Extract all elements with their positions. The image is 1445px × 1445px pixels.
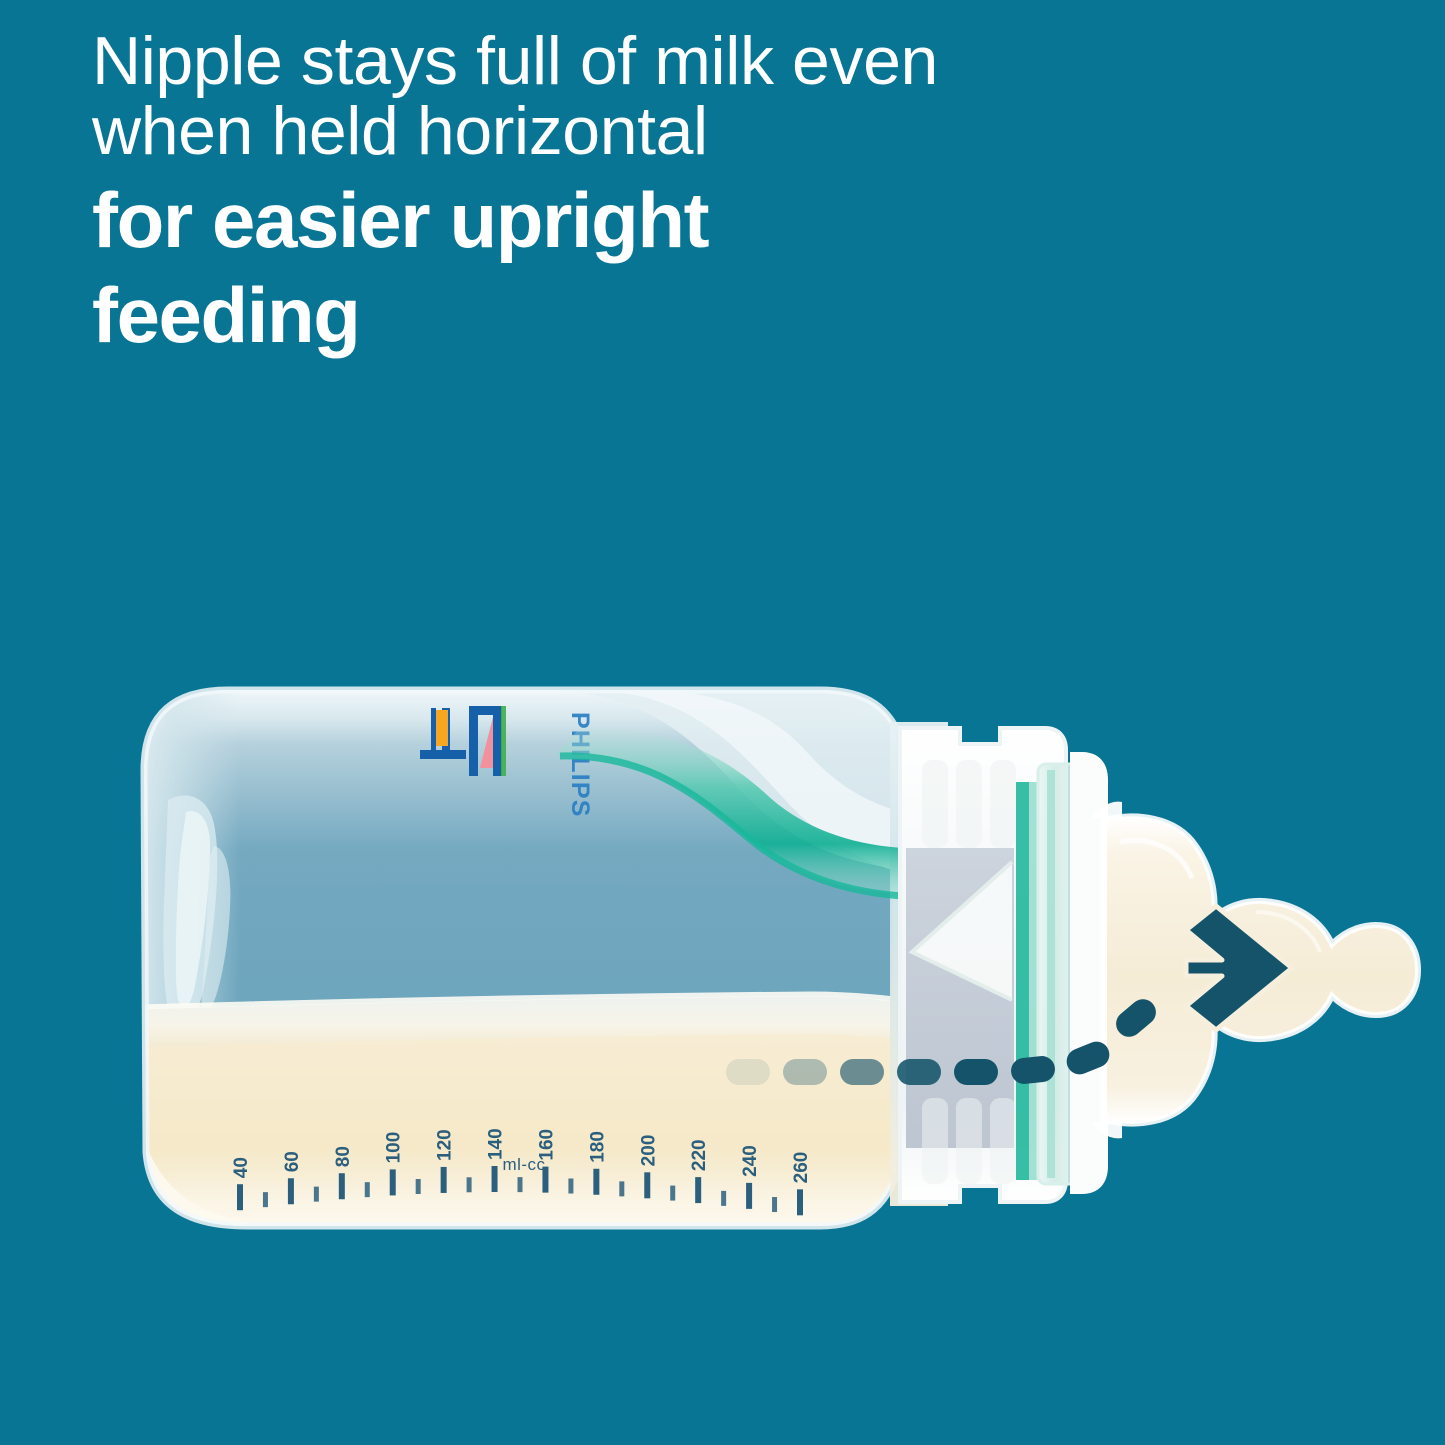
scale-major-tick bbox=[288, 1178, 294, 1204]
scale-major-tick bbox=[695, 1177, 701, 1203]
bottle-body: ml-cc 406080100120140160180200220240260 … bbox=[110, 681, 1418, 1240]
screw-collar bbox=[900, 728, 1108, 1202]
scale-major-tick bbox=[593, 1169, 599, 1195]
scale-minor-tick bbox=[670, 1186, 675, 1201]
flow-dash bbox=[783, 1059, 827, 1085]
seal-ring-green-1 bbox=[1016, 782, 1029, 1180]
flow-dash bbox=[840, 1059, 884, 1085]
poster-canvas: Nipple stays full of milk even when held… bbox=[0, 0, 1445, 1445]
scale-minor-tick bbox=[518, 1177, 523, 1192]
scale-minor-tick bbox=[568, 1179, 573, 1194]
scale-label: 60 bbox=[282, 1151, 303, 1172]
scale-major-tick bbox=[492, 1166, 498, 1192]
scale-label: 200 bbox=[638, 1135, 659, 1167]
scale-major-tick bbox=[339, 1173, 345, 1199]
scale-minor-tick bbox=[365, 1182, 370, 1197]
collar-glass-band-green-line bbox=[1047, 770, 1055, 1178]
scale-label: 180 bbox=[587, 1131, 608, 1163]
scale-minor-tick bbox=[619, 1181, 624, 1196]
flow-dash bbox=[954, 1059, 998, 1085]
scale-label: 140 bbox=[486, 1128, 507, 1160]
scale-label: 240 bbox=[740, 1145, 761, 1177]
scale-minor-tick bbox=[721, 1191, 726, 1206]
scale-label: 120 bbox=[435, 1129, 456, 1161]
scale-label: 40 bbox=[231, 1157, 252, 1178]
scale-major-tick bbox=[441, 1167, 447, 1193]
scale-label: 220 bbox=[689, 1139, 710, 1171]
scale-major-tick bbox=[390, 1169, 396, 1195]
brand-logo: PHILIPS bbox=[566, 712, 594, 818]
brand-philips-text: PHILIPS bbox=[566, 712, 594, 818]
flow-dash bbox=[897, 1059, 941, 1085]
scale-major-tick bbox=[797, 1189, 803, 1215]
scale-label: 100 bbox=[384, 1132, 405, 1164]
flow-dash bbox=[726, 1059, 770, 1085]
scale-minor-tick bbox=[314, 1187, 319, 1202]
scale-major-tick bbox=[237, 1184, 243, 1210]
scale-minor-tick bbox=[772, 1197, 777, 1212]
scale-major-tick bbox=[644, 1172, 650, 1198]
scale-major-tick bbox=[542, 1167, 548, 1193]
scale-minor-tick bbox=[416, 1179, 421, 1194]
scale-label: 160 bbox=[536, 1129, 557, 1161]
scale-major-tick bbox=[746, 1183, 752, 1209]
product-illustration: ml-cc 406080100120140160180200220240260 … bbox=[0, 0, 1445, 1445]
scale-minor-tick bbox=[263, 1192, 268, 1207]
scale-label: 80 bbox=[333, 1146, 354, 1167]
scale-minor-tick bbox=[467, 1177, 472, 1192]
scale-label: 260 bbox=[791, 1152, 812, 1184]
